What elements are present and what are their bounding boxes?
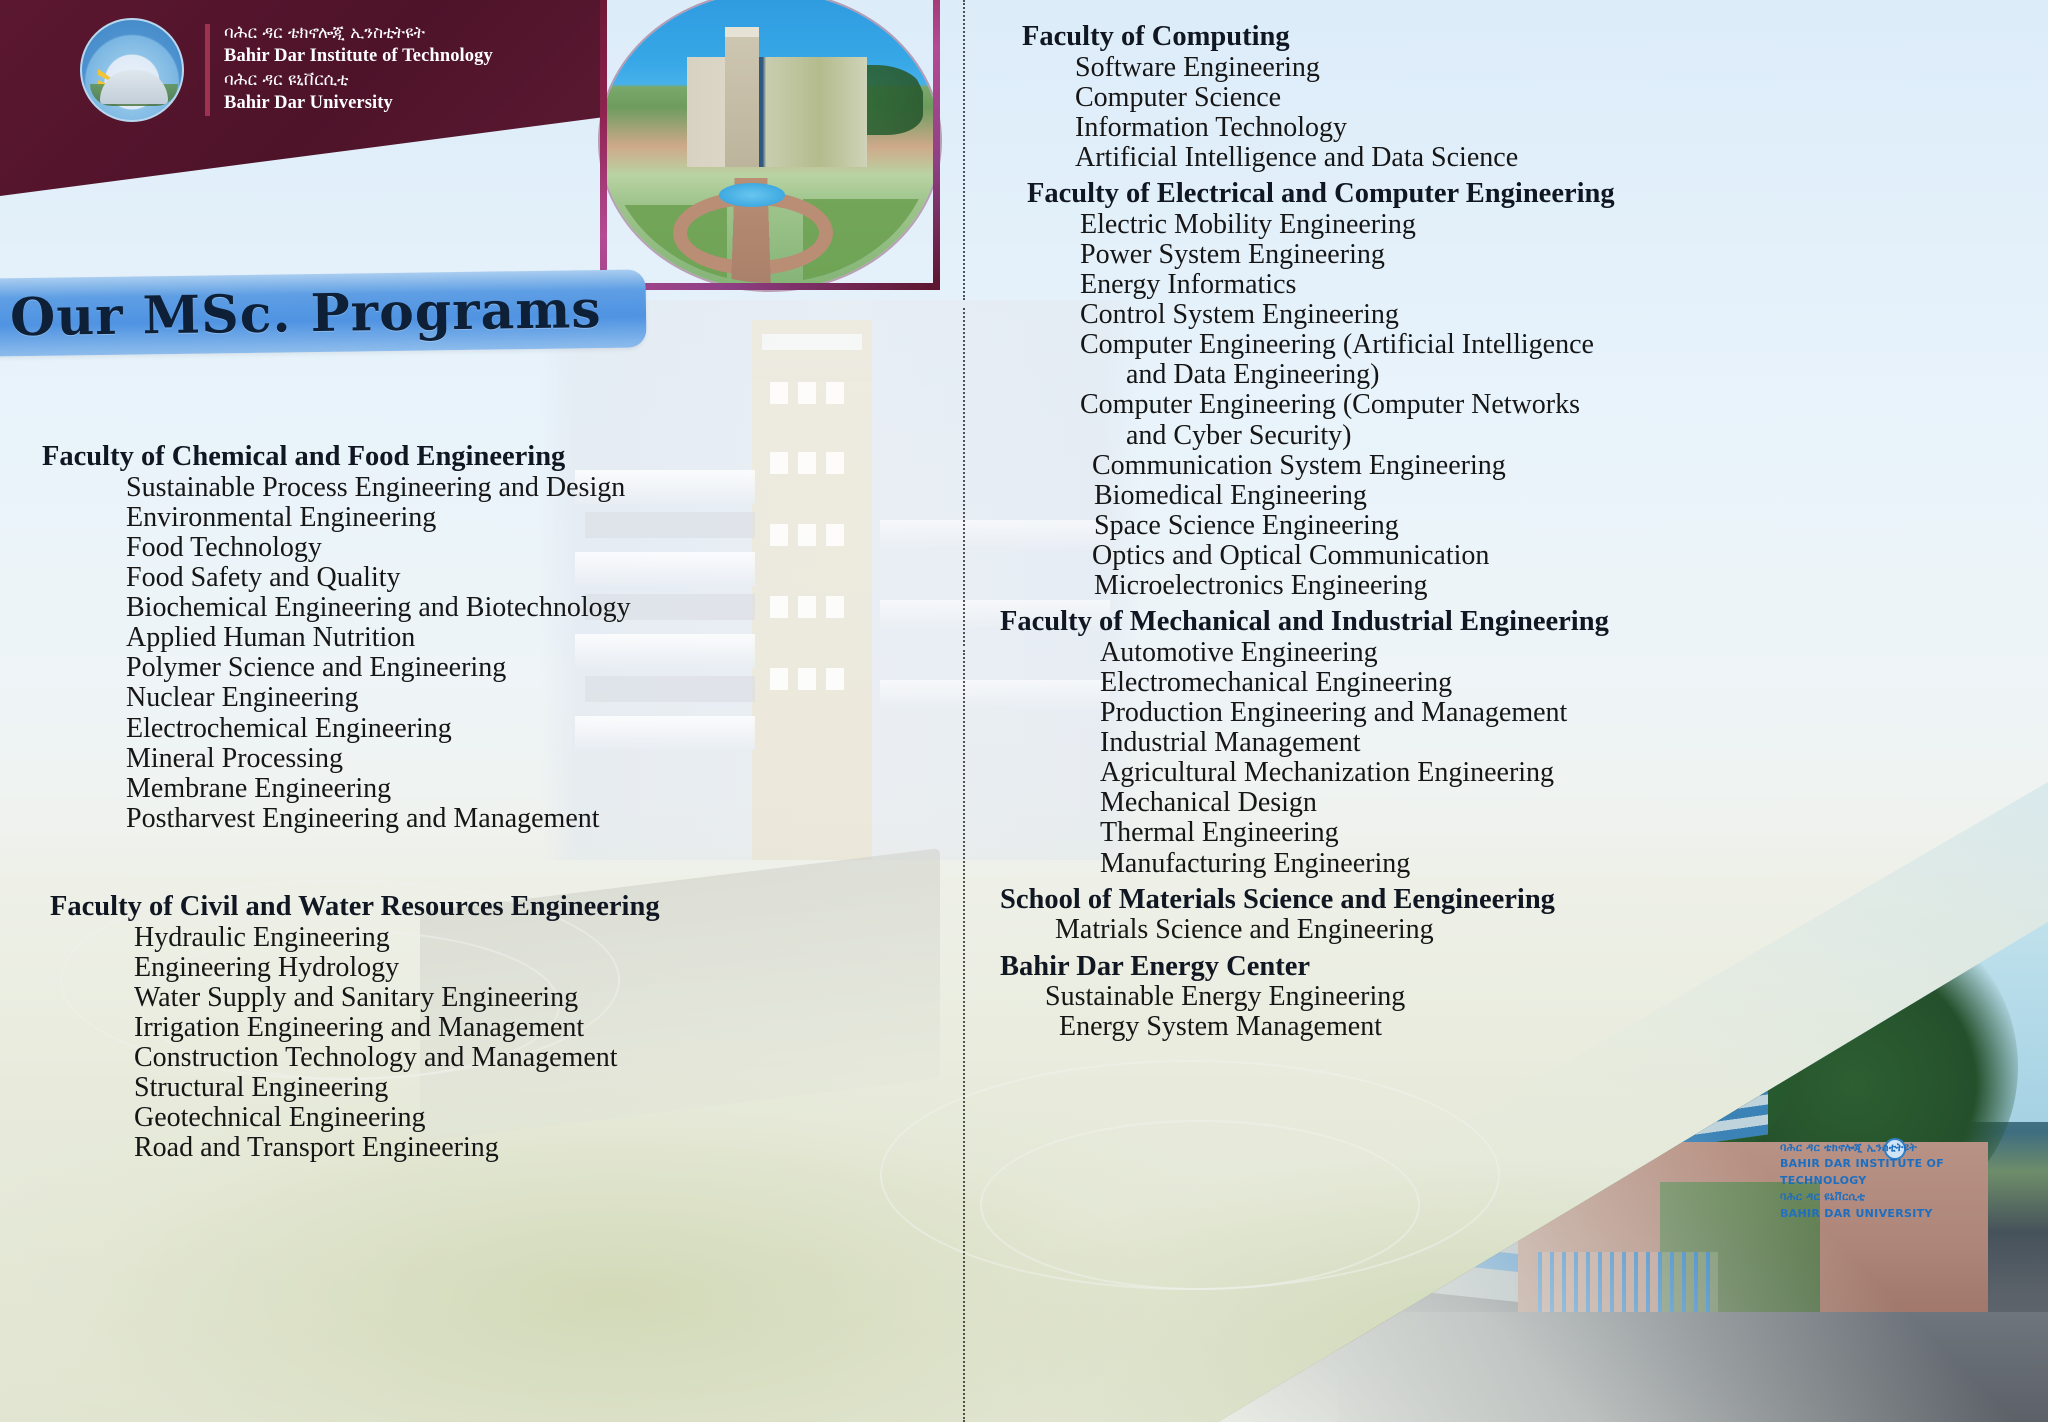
left-program-column: Faculty of Chemical and Food Engineering… bbox=[0, 430, 930, 1163]
section-spacer bbox=[0, 834, 930, 880]
right-program-column: Faculty of Computing Software Engineerin… bbox=[975, 22, 2048, 1042]
institution-name-amharic-1: ባሕር ዳር ቴክኖሎጂ ኢንስቲትዩት bbox=[224, 22, 564, 44]
program-item: Membrane Engineering bbox=[126, 774, 930, 804]
campus-aerial-photo bbox=[600, 0, 940, 290]
program-item: Electric Mobility Engineering bbox=[1080, 210, 2048, 240]
gate-sign-line: ባሕር ዳር ቴክኖሎጂ ኢንስቲትዩት bbox=[1780, 1140, 1970, 1157]
program-item: Engineering Hydrology bbox=[134, 953, 930, 983]
gate-sign-line: BAHIR DAR UNIVERSITY bbox=[1780, 1206, 1970, 1223]
aerial-photo-tower bbox=[725, 35, 759, 167]
aerial-photo-main-building bbox=[687, 57, 867, 167]
gate-photo-sign-text: ባሕር ዳር ቴክኖሎጂ ኢንስቲትዩት BAHIR DAR INSTITUTE… bbox=[1780, 1140, 1970, 1223]
institution-name-amharic-2: ባሕር ዳር ዩኒቨርሲቲ bbox=[224, 69, 564, 91]
institution-name-block: ባሕር ዳር ቴክኖሎጂ ኢንስቲትዩት Bahir Dar Institute… bbox=[224, 22, 564, 116]
faculty-heading-chemical-food: Faculty of Chemical and Food Engineering bbox=[42, 442, 930, 473]
program-item: Computer Science bbox=[1075, 83, 2048, 113]
program-item: Polymer Science and Engineering bbox=[126, 653, 930, 683]
program-item: Control System Engineering bbox=[1080, 300, 2048, 330]
program-item-continuation: and Data Engineering) bbox=[1080, 360, 2048, 390]
background-window bbox=[770, 382, 788, 404]
program-item: Water Supply and Sanitary Engineering bbox=[134, 983, 930, 1013]
program-item: Mechanical Design bbox=[1100, 788, 2048, 818]
program-item: Communication System Engineering bbox=[1080, 451, 2048, 481]
program-item: Biomedical Engineering bbox=[1080, 481, 2048, 511]
program-item: Artificial Intelligence and Data Science bbox=[1075, 143, 2048, 173]
gate-photo-road bbox=[1338, 1312, 2048, 1422]
page-title-banner: Our MSc. Programs bbox=[0, 269, 647, 356]
background-walkway bbox=[980, 1120, 1420, 1290]
aerial-photo-tower-roof bbox=[725, 27, 759, 37]
background-window bbox=[826, 382, 844, 404]
background-window bbox=[798, 382, 816, 404]
program-item: Production Engineering and Management bbox=[1100, 698, 2048, 728]
program-item: Mineral Processing bbox=[126, 744, 930, 774]
institution-name-english-2: Bahir Dar University bbox=[224, 91, 564, 115]
program-item: Nuclear Engineering bbox=[126, 683, 930, 713]
program-item: Construction Technology and Management bbox=[134, 1043, 930, 1073]
logo-divider bbox=[205, 24, 210, 116]
program-item: Power System Engineering bbox=[1080, 240, 2048, 270]
gate-sign-line: ባሕር ዳር ዩኒቨርሲቲ bbox=[1780, 1189, 1970, 1206]
gate-sign-line: BAHIR DAR INSTITUTE OF TECHNOLOGY bbox=[1780, 1156, 1970, 1189]
university-seal-icon bbox=[80, 18, 184, 122]
program-item: Sustainable Process Engineering and Desi… bbox=[126, 473, 930, 503]
page-title: Our MSc. Programs bbox=[10, 279, 602, 348]
program-item: Energy Informatics bbox=[1080, 270, 2048, 300]
faculty-heading-computing: Faculty of Computing bbox=[1022, 22, 2048, 53]
program-item: Agricultural Mechanization Engineering bbox=[1100, 758, 2048, 788]
program-item: Computer Engineering (Artificial Intelli… bbox=[1080, 330, 2048, 360]
faculty-heading-civil-water: Faculty of Civil and Water Resources Eng… bbox=[50, 892, 930, 923]
program-item: Optics and Optical Communication bbox=[1080, 541, 2048, 571]
program-item: Matrials Science and Engineering bbox=[1055, 915, 2048, 945]
institution-name-english-1: Bahir Dar Institute of Technology bbox=[224, 44, 564, 68]
program-item: Automotive Engineering bbox=[1100, 638, 2048, 668]
program-item: Road and Transport Engineering bbox=[134, 1133, 930, 1163]
faculty-heading-electrical-computer: Faculty of Electrical and Computer Engin… bbox=[1027, 179, 2048, 210]
program-item: Postharvest Engineering and Management bbox=[126, 804, 930, 834]
aerial-photo-fountain bbox=[719, 183, 785, 207]
program-item: Microelectronics Engineering bbox=[1080, 571, 2048, 601]
program-item: Software Engineering bbox=[1075, 53, 2048, 83]
program-item: Geotechnical Engineering bbox=[134, 1103, 930, 1133]
program-item: Electrochemical Engineering bbox=[126, 714, 930, 744]
faculty-heading-materials-science: School of Materials Science and Eenginee… bbox=[1000, 885, 2048, 916]
program-item: Sustainable Energy Engineering bbox=[1045, 982, 2048, 1012]
program-item: Energy System Management bbox=[1045, 1012, 2048, 1042]
program-item: Information Technology bbox=[1075, 113, 2048, 143]
column-divider bbox=[963, 308, 965, 646]
program-item: Space Science Engineering bbox=[1080, 511, 2048, 541]
program-item: Food Safety and Quality bbox=[126, 563, 930, 593]
program-item: Irrigation Engineering and Management bbox=[134, 1013, 930, 1043]
program-item: Hydraulic Engineering bbox=[134, 923, 930, 953]
program-item: Manufacturing Engineering bbox=[1100, 849, 2048, 879]
program-item: Food Technology bbox=[126, 533, 930, 563]
program-item-continuation: and Cyber Security) bbox=[1080, 421, 2048, 451]
program-item: Electromechanical Engineering bbox=[1100, 668, 2048, 698]
faculty-heading-mechanical-industrial: Faculty of Mechanical and Industrial Eng… bbox=[1000, 607, 2048, 638]
column-divider bbox=[963, 650, 965, 1422]
faculty-heading-energy-center: Bahir Dar Energy Center bbox=[1000, 952, 2048, 983]
column-divider bbox=[963, 0, 965, 300]
program-item: Thermal Engineering bbox=[1100, 818, 2048, 848]
program-item: Environmental Engineering bbox=[126, 503, 930, 533]
program-item: Structural Engineering bbox=[134, 1073, 930, 1103]
program-item: Industrial Management bbox=[1100, 728, 2048, 758]
program-item: Computer Engineering (Computer Networks bbox=[1080, 390, 2048, 420]
program-item: Biochemical Engineering and Biotechnolog… bbox=[126, 593, 930, 623]
program-item: Applied Human Nutrition bbox=[126, 623, 930, 653]
